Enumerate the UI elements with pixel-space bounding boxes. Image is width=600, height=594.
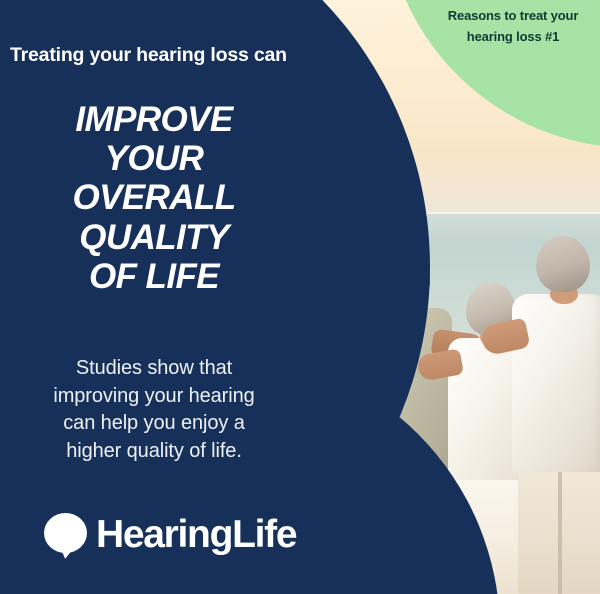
- headline-line: Improve: [22, 100, 286, 139]
- body-copy-line: higher quality of life.: [22, 438, 286, 466]
- body-copy-line: improving your hearing: [22, 383, 286, 411]
- body-copy: Studies show that improving your hearing…: [22, 355, 286, 465]
- reasons-badge-line-1: Reasons to treat your: [430, 5, 596, 26]
- headline-line: of Life: [22, 257, 286, 296]
- hearinglife-logo[interactable]: HearingLife: [44, 513, 296, 556]
- hearinglife-wordmark: HearingLife: [96, 515, 296, 554]
- reasons-badge-line-2: hearing loss #1: [430, 26, 596, 47]
- advertisement-canvas: Reasons to treat your hearing loss #1 Tr…: [0, 0, 600, 594]
- headline-line: Your: [22, 139, 286, 178]
- kicker-text: Treating your hearing loss can: [10, 44, 287, 67]
- body-copy-line: Studies show that: [22, 355, 286, 383]
- headline-line: Overall: [22, 178, 286, 217]
- body-copy-line: can help you enjoy a: [22, 410, 286, 438]
- reasons-badge: Reasons to treat your hearing loss #1: [430, 5, 596, 47]
- person-head: [536, 236, 590, 292]
- headline-line: Quality: [22, 218, 286, 257]
- speech-bubble-icon: [44, 513, 87, 556]
- speech-bubble-tail: [56, 542, 77, 560]
- person-leg-gap: [558, 470, 562, 594]
- headline: Improve Your Overall Quality of Life: [22, 100, 286, 296]
- person-torso: [512, 294, 600, 472]
